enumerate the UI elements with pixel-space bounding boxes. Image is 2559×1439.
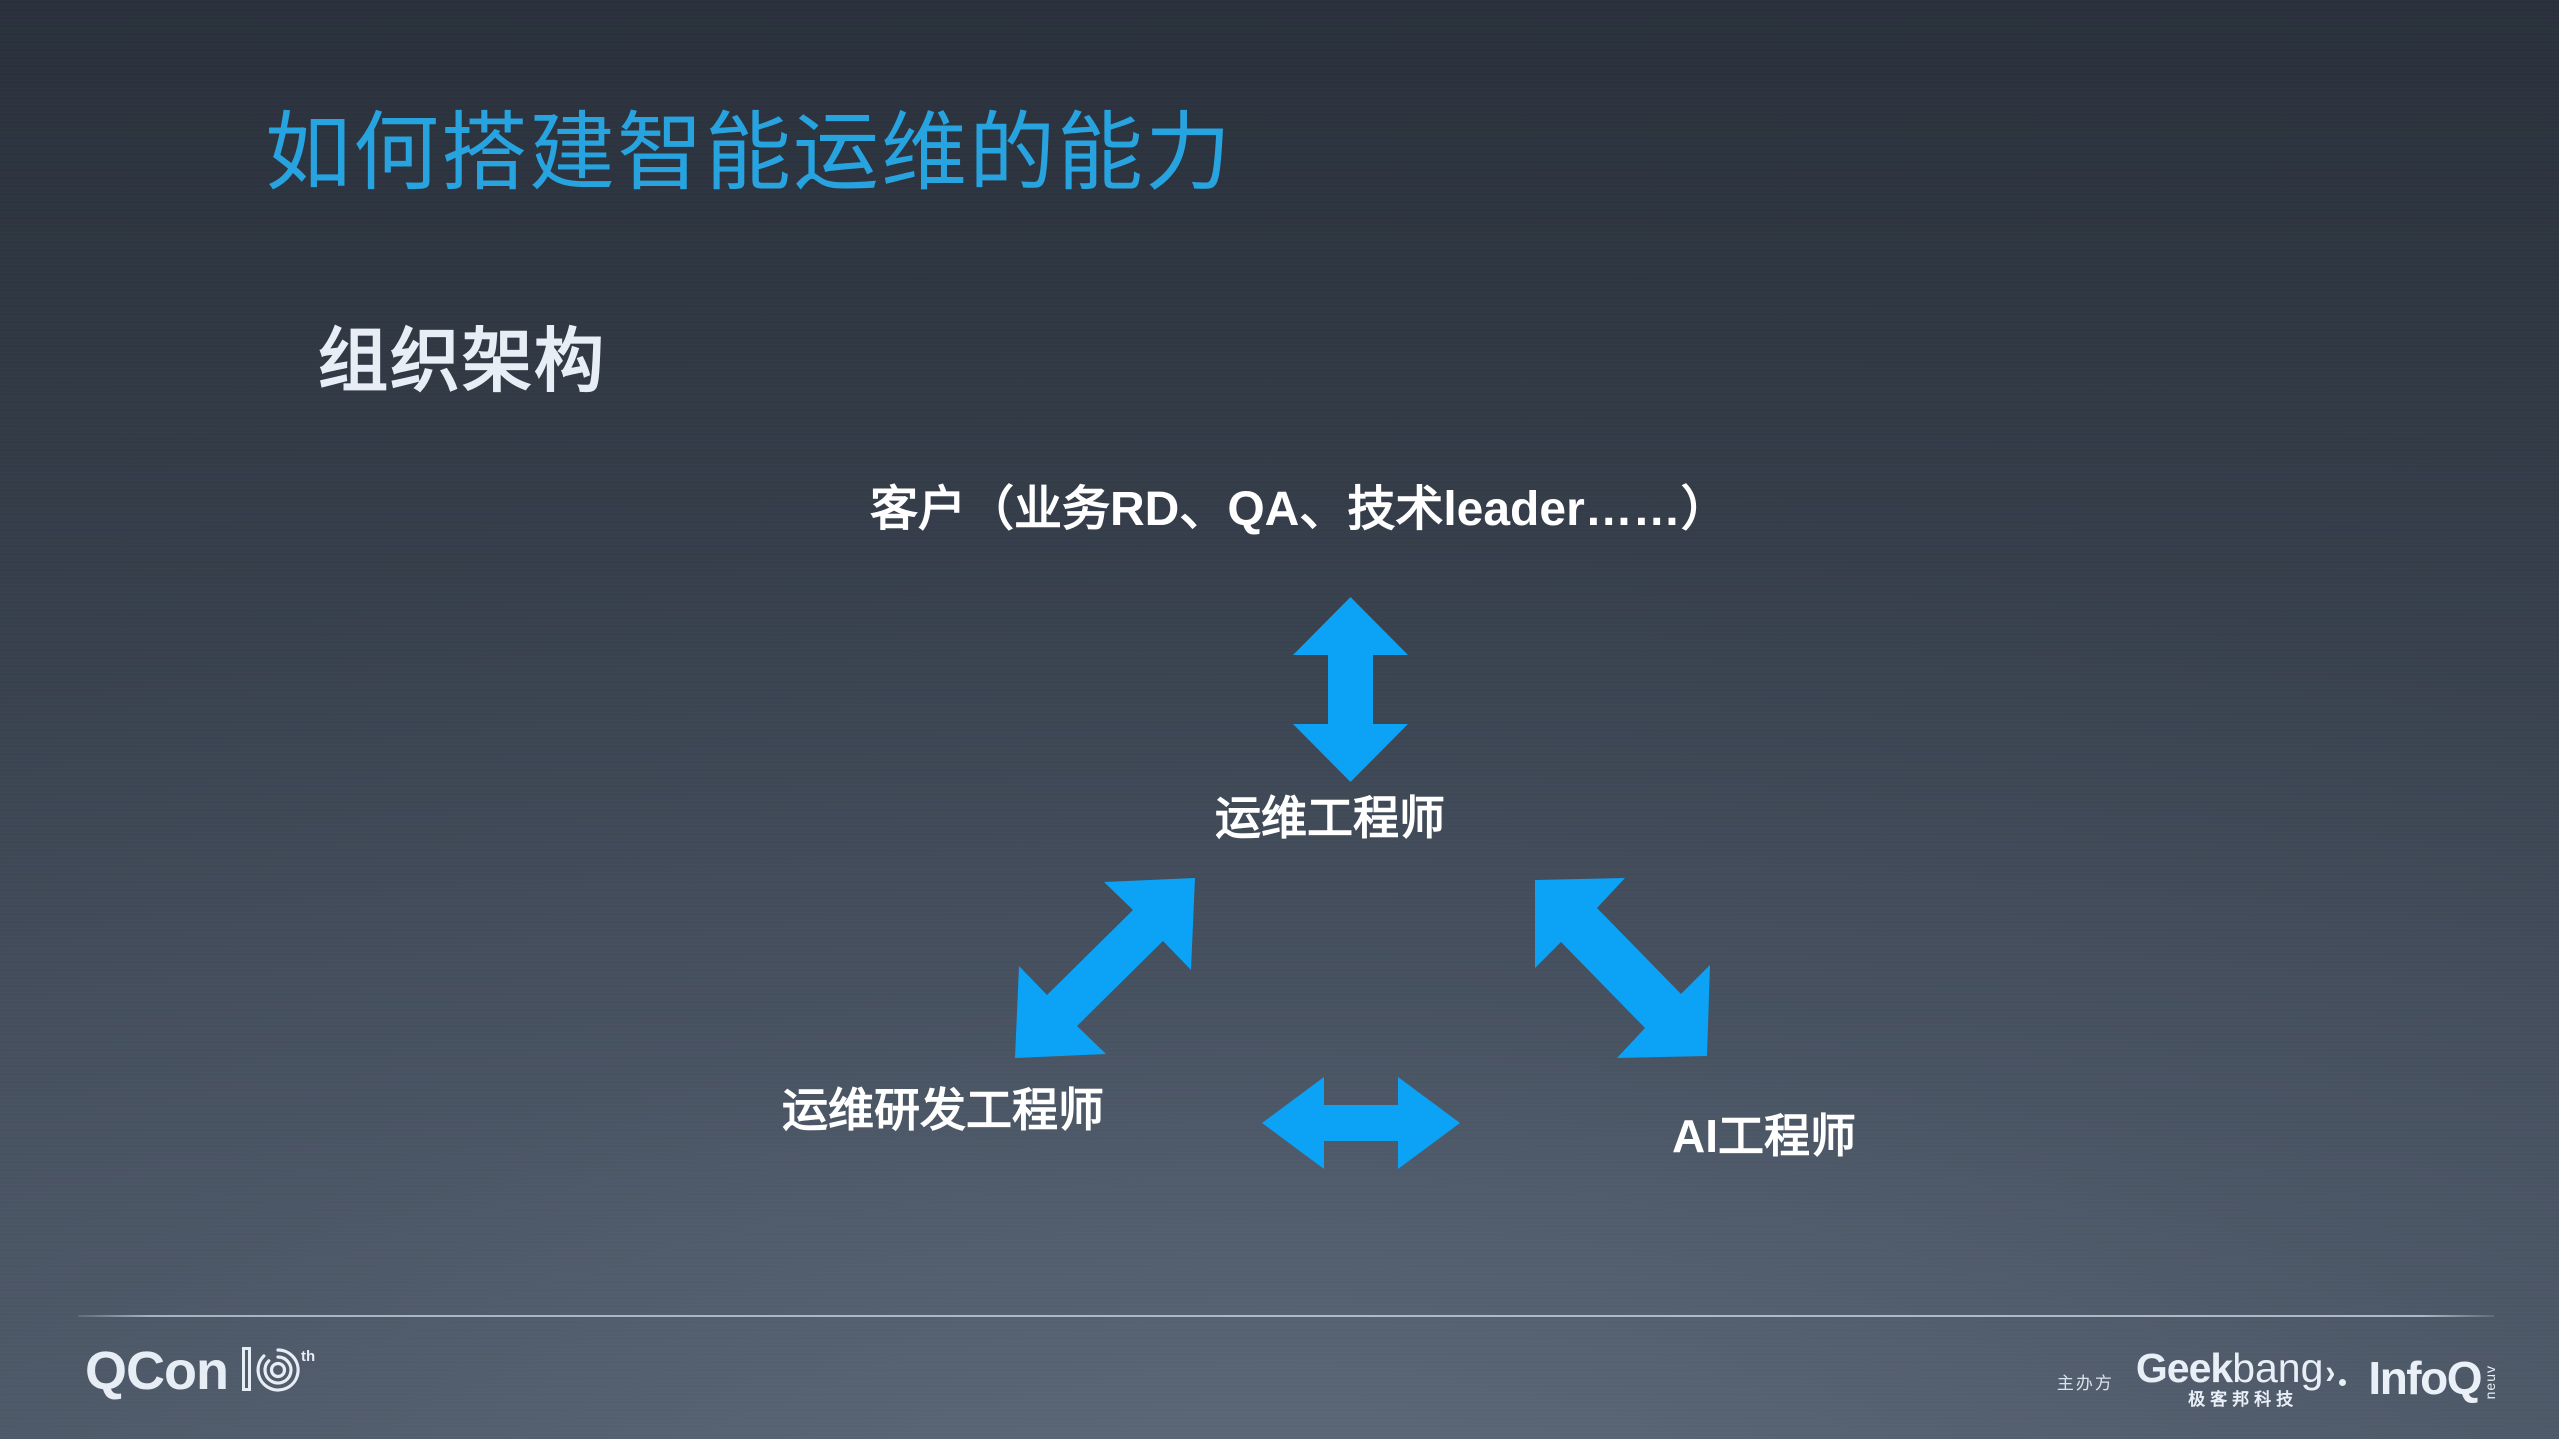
geekbang-word-bang: bang <box>2232 1348 2323 1389</box>
double-arrow-horizontal-icon <box>1262 1077 1460 1169</box>
geekbang-wordmark-cn: 极客邦科技 <box>2184 1391 2298 1408</box>
geekbang-dot-icon <box>2339 1379 2346 1386</box>
qcon-anniversary-mark: th <box>242 1347 315 1397</box>
qcon-anniversary-bar-icon <box>242 1347 251 1391</box>
presentation-slide: 如何搭建智能运维的能力 组织架构 客户（业务RD、QA、技术leader……） … <box>0 0 2559 1439</box>
infoq-rotated-text: neuv <box>2483 1359 2497 1399</box>
slide-subtitle: 组织架构 <box>318 325 606 399</box>
geekbang-chevron-icon: › <box>2325 1356 2334 1391</box>
qcon-anniversary-superscript: th <box>301 1348 315 1365</box>
double-arrow-diagonal-up-right-icon <box>1015 878 1195 1058</box>
qcon-anniversary-rings-icon <box>255 1347 301 1393</box>
diagram-node-ai-engineer: AI工程师 <box>1672 1110 1856 1163</box>
footer-divider <box>78 1315 2494 1317</box>
diagram-node-ops-engineer: 运维工程师 <box>1215 792 1445 845</box>
double-arrow-diagonal-down-right-icon <box>1535 878 1710 1058</box>
sponsor-logos: 主办方 Geek bang › 极客邦科技 InfoQ neuv <box>2057 1348 2497 1408</box>
geekbang-logo: Geek bang › 极客邦科技 <box>2136 1348 2347 1408</box>
infoq-wordmark: InfoQ <box>2368 1357 2481 1399</box>
diagram-node-customer: 客户（业务RD、QA、技术leader……） <box>870 482 1729 537</box>
qcon-logo: QCon th <box>85 1346 315 1397</box>
double-arrow-vertical-icon <box>1293 597 1408 782</box>
sponsor-prefix-label: 主办方 <box>2057 1363 2114 1394</box>
geekbang-word-geek: Geek <box>2136 1348 2232 1389</box>
infoq-logo: InfoQ neuv <box>2368 1357 2497 1399</box>
diagram-node-ops-dev-engineer: 运维研发工程师 <box>782 1084 1104 1137</box>
geekbang-wordmark-en: Geek bang › <box>2136 1348 2347 1389</box>
slide-title: 如何搭建智能运维的能力 <box>265 108 1233 198</box>
qcon-wordmark: QCon <box>85 1346 228 1397</box>
